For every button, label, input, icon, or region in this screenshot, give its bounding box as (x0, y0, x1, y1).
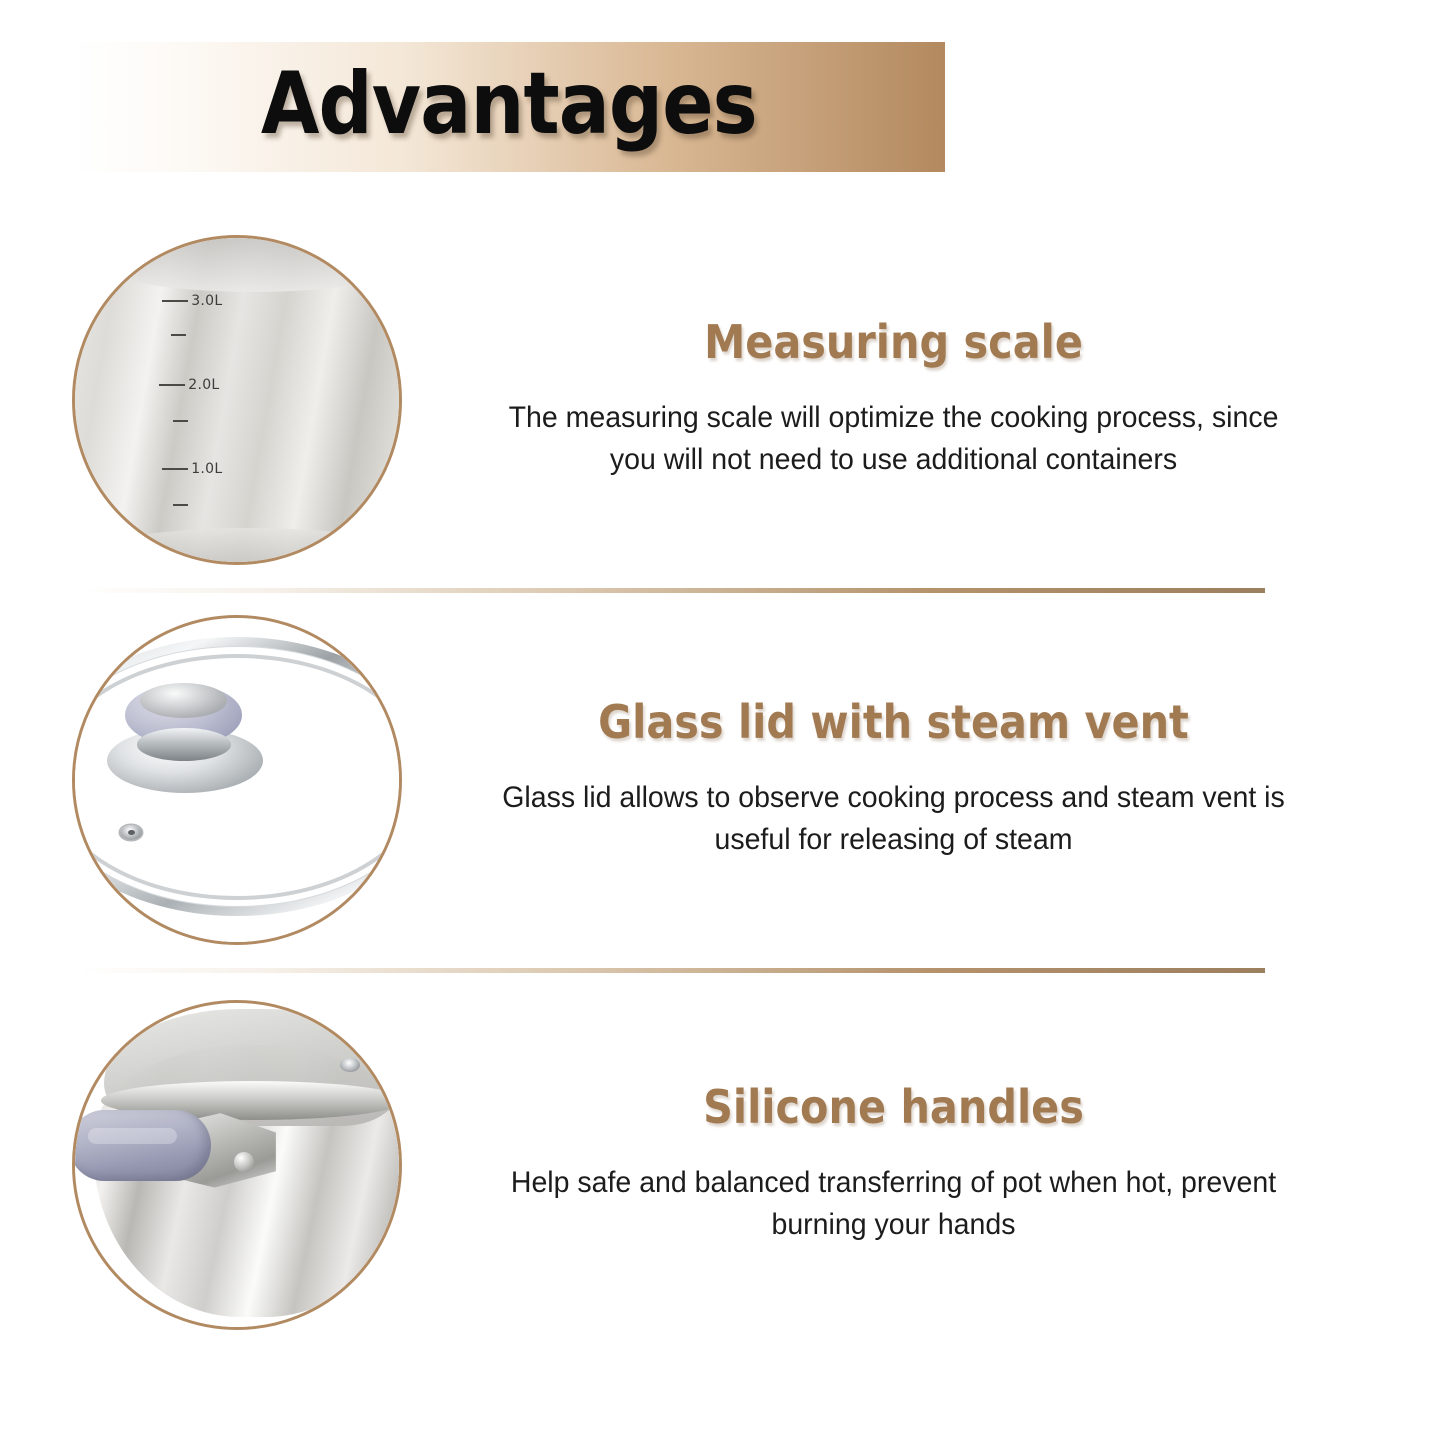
feature-image-glass-lid (72, 615, 402, 945)
scale-label: 2.0L (188, 377, 219, 393)
feature-title: Measuring scale (505, 318, 1282, 366)
scale-label: 3.0L (191, 293, 222, 309)
scale-mark-minor-2 (173, 420, 191, 422)
tick-bar (173, 420, 188, 422)
handle-rivet (234, 1152, 254, 1172)
scale-mark-minor-3 (173, 504, 191, 506)
photo-inner (75, 618, 399, 942)
infographic-page: Advantages 3.0L 2.0L (0, 0, 1445, 1445)
feature-description: The measuring scale will optimize the co… (484, 397, 1304, 482)
feature-row-measuring-scale: 3.0L 2.0L 1.0L (0, 225, 1445, 575)
section-divider-1 (80, 588, 1265, 593)
feature-row-glass-lid: Glass lid with steam vent Glass lid allo… (0, 605, 1445, 955)
scale-label: 1.0L (191, 461, 222, 477)
feature-text-measuring-scale: Measuring scale The measuring scale will… (402, 318, 1445, 481)
scale-mark-1L: 1.0L (162, 461, 222, 477)
section-divider-2 (80, 968, 1265, 973)
pot-with-handle-photo (75, 1003, 399, 1327)
glass-lid-photo (75, 618, 399, 942)
tick-bar (162, 300, 188, 302)
feature-title: Silicone handles (505, 1083, 1282, 1131)
tick-bar (162, 468, 188, 470)
feature-description: Help safe and balanced transferring of p… (484, 1162, 1304, 1247)
feature-row-silicone-handles: Silicone handles Help safe and balanced … (0, 985, 1445, 1345)
photo-inner (75, 1003, 399, 1327)
tick-bar (171, 334, 186, 336)
scale-mark-2L: 2.0L (159, 377, 219, 393)
feature-text-silicone-handles: Silicone handles Help safe and balanced … (402, 1083, 1445, 1246)
handle-silicone-grip (75, 1110, 211, 1181)
photo-inner: 3.0L 2.0L 1.0L (75, 238, 399, 562)
knob-steel-collar (137, 728, 231, 760)
scale-mark-minor-1 (171, 334, 189, 336)
feature-description: Glass lid allows to observe cooking proc… (484, 777, 1304, 862)
feature-image-measuring-scale: 3.0L 2.0L 1.0L (72, 235, 402, 565)
feature-title: Glass lid with steam vent (505, 698, 1282, 746)
scale-mark-3L: 3.0L (162, 293, 222, 309)
tick-bar (173, 504, 188, 506)
page-title: Advantages (260, 61, 756, 153)
header-banner: Advantages (72, 42, 945, 172)
feature-text-glass-lid: Glass lid with steam vent Glass lid allo… (402, 698, 1445, 861)
feature-image-silicone-handles (72, 1000, 402, 1330)
measuring-scale-marks: 3.0L 2.0L 1.0L (159, 283, 308, 523)
tick-bar (159, 384, 185, 386)
